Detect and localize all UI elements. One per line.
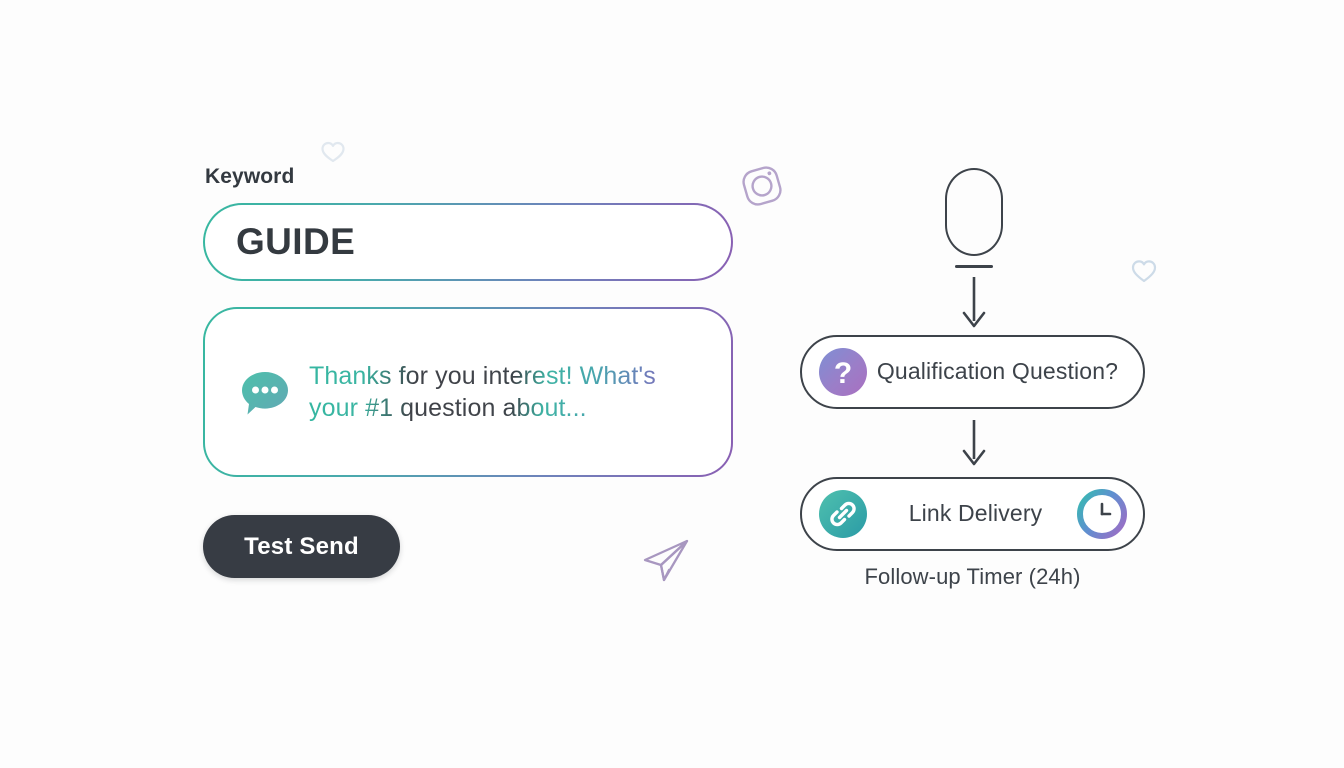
- automation-flow-diagram: ? Qualification Question?: [800, 168, 1145, 590]
- instagram-camera-icon: [736, 160, 788, 217]
- flow-node-qualification-question[interactable]: ? Qualification Question?: [800, 335, 1145, 409]
- flow-node-link-delivery-label: Link Delivery: [868, 500, 1077, 527]
- instagram-post-source[interactable]: [802, 168, 1145, 268]
- post-capsule-shape: [945, 168, 1003, 256]
- keyword-input-value: GUIDE: [236, 221, 355, 263]
- flow-node-link-delivery[interactable]: Link Delivery: [800, 477, 1145, 551]
- test-send-button[interactable]: Test Send: [203, 515, 400, 578]
- keyword-label: Keyword: [205, 165, 733, 189]
- chat-bubble-icon: [239, 369, 291, 417]
- canvas-root: Keyword GUIDE T: [0, 0, 1344, 768]
- keyword-reply-panel: Keyword GUIDE T: [203, 165, 733, 578]
- flow-arrow-down: [802, 275, 1145, 331]
- auto-reply-message-input[interactable]: Thanks for you interest! What's your #1 …: [203, 307, 733, 477]
- svg-text:?: ?: [834, 357, 852, 390]
- follow-up-timer-caption: Follow-up Timer (24h): [800, 564, 1145, 590]
- flow-arrow-down-secondary: [802, 418, 1145, 468]
- flow-node-qualification-label: Qualification Question?: [868, 358, 1127, 385]
- question-mark-icon: ?: [818, 347, 868, 397]
- auto-reply-message-text: Thanks for you interest! What's your #1 …: [309, 360, 701, 425]
- post-underline-shape: [955, 265, 993, 268]
- link-chain-icon: [818, 489, 868, 539]
- keyword-input[interactable]: GUIDE: [203, 203, 733, 281]
- clock-icon: [1077, 489, 1127, 539]
